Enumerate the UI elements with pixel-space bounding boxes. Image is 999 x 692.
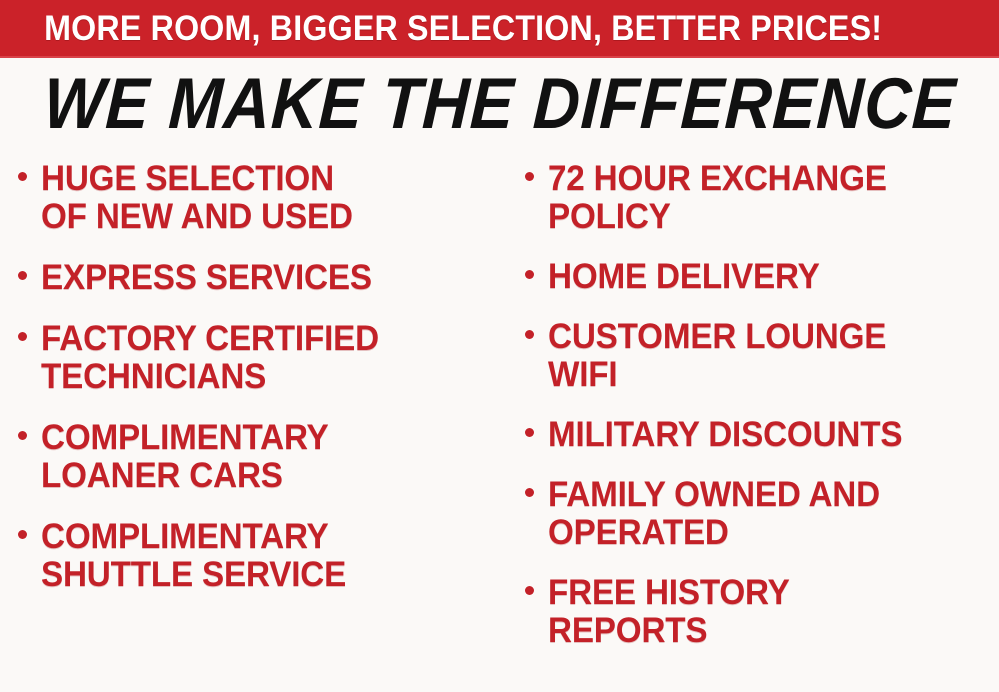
list-item-label: FAMILY OWNED AND OPERATED xyxy=(548,476,880,552)
list-item: CUSTOMER LOUNGE WIFI xyxy=(525,318,999,394)
list-item: FACTORY CERTIFIED TECHNICIANS xyxy=(18,320,505,396)
bullet-dot-icon xyxy=(525,270,534,279)
features-columns: HUGE SELECTION OF NEW AND USED EXPRESS S… xyxy=(0,160,999,692)
bullet-dot-icon xyxy=(525,428,534,437)
list-item-label: FREE HISTORY REPORTS xyxy=(548,574,790,650)
list-item-label: CUSTOMER LOUNGE WIFI xyxy=(548,318,886,394)
main-headline-container: WE MAKE THE DIFFERENCE xyxy=(0,63,999,145)
bullet-dot-icon xyxy=(18,172,27,181)
list-item-label: FACTORY CERTIFIED TECHNICIANS xyxy=(41,320,379,396)
list-item: FREE HISTORY REPORTS xyxy=(525,574,999,650)
list-item: COMPLIMENTARY SHUTTLE SERVICE xyxy=(18,518,505,594)
list-item-label: EXPRESS SERVICES xyxy=(41,259,372,297)
bullet-dot-icon xyxy=(525,488,534,497)
list-item: 72 HOUR EXCHANGE POLICY xyxy=(525,160,999,236)
list-item-label: HUGE SELECTION OF NEW AND USED xyxy=(41,160,353,236)
bullet-dot-icon xyxy=(525,330,534,339)
bullet-dot-icon xyxy=(525,586,534,595)
features-column-left: HUGE SELECTION OF NEW AND USED EXPRESS S… xyxy=(0,160,505,617)
list-item-label: MILITARY DISCOUNTS xyxy=(548,416,902,454)
bullet-dot-icon xyxy=(18,431,27,440)
list-item: HUGE SELECTION OF NEW AND USED xyxy=(18,160,505,236)
top-banner: MORE ROOM, BIGGER SELECTION, BETTER PRIC… xyxy=(0,0,999,58)
list-item-label: COMPLIMENTARY LOANER CARS xyxy=(41,419,329,495)
list-item: EXPRESS SERVICES xyxy=(18,259,505,297)
banner-headline: MORE ROOM, BIGGER SELECTION, BETTER PRIC… xyxy=(0,11,882,46)
list-item-label: COMPLIMENTARY SHUTTLE SERVICE xyxy=(41,518,346,594)
bullet-dot-icon xyxy=(18,332,27,341)
list-item: FAMILY OWNED AND OPERATED xyxy=(525,476,999,552)
bullet-dot-icon xyxy=(18,530,27,539)
list-item: COMPLIMENTARY LOANER CARS xyxy=(18,419,505,495)
bullet-dot-icon xyxy=(18,271,27,280)
list-item-label: HOME DELIVERY xyxy=(548,258,820,296)
list-item: MILITARY DISCOUNTS xyxy=(525,416,999,454)
features-column-right: 72 HOUR EXCHANGE POLICY HOME DELIVERY CU… xyxy=(505,160,999,672)
page-title: WE MAKE THE DIFFERENCE xyxy=(42,68,958,140)
bullet-dot-icon xyxy=(525,172,534,181)
list-item: HOME DELIVERY xyxy=(525,258,999,296)
list-item-label: 72 HOUR EXCHANGE POLICY xyxy=(548,160,887,236)
promotional-poster: MORE ROOM, BIGGER SELECTION, BETTER PRIC… xyxy=(0,0,999,692)
